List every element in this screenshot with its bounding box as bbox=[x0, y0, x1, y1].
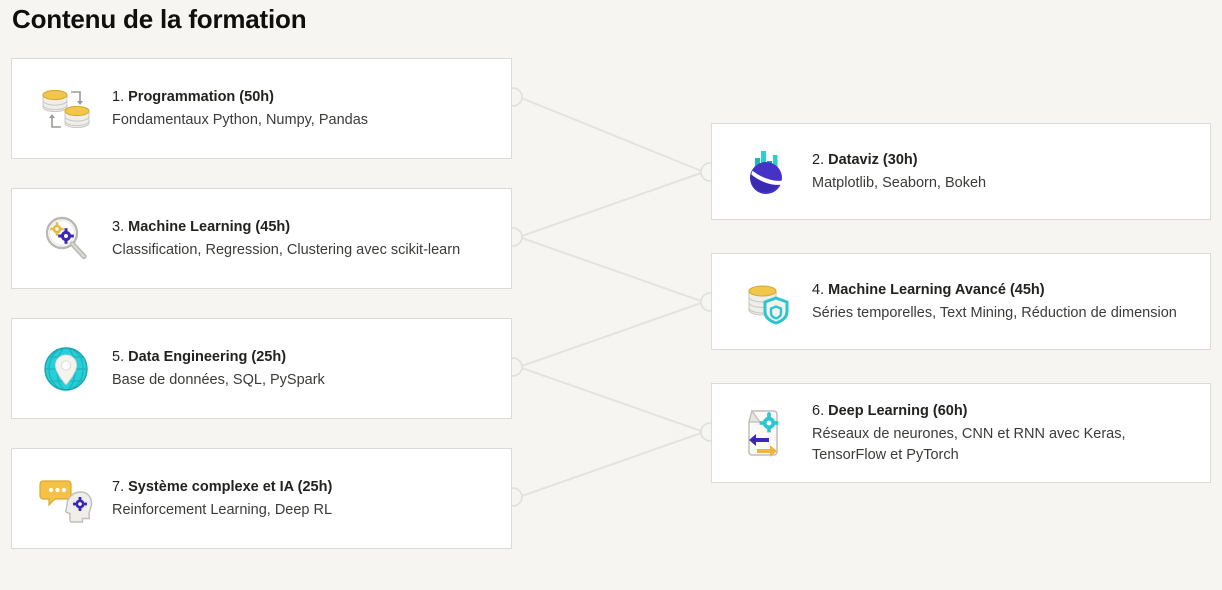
module-card-3[interactable]: 3. Machine Learning (45h) Classification… bbox=[11, 188, 512, 289]
file-gear-arrows-icon bbox=[738, 405, 794, 461]
module-title: 7. Système complexe et IA (25h) bbox=[112, 477, 493, 498]
magnifier-gears-icon bbox=[38, 211, 94, 267]
module-card-6[interactable]: 6. Deep Learning (60h) Réseaux de neuron… bbox=[711, 383, 1211, 483]
module-title: 5. Data Engineering (25h) bbox=[112, 347, 493, 368]
module-card-text: 6. Deep Learning (60h) Réseaux de neuron… bbox=[812, 401, 1210, 466]
module-number: 2. bbox=[812, 152, 824, 168]
module-card-4[interactable]: 4. Machine Learning Avancé (45h) Séries … bbox=[711, 253, 1211, 350]
module-card-text: 3. Machine Learning (45h) Classification… bbox=[112, 217, 511, 261]
module-number: 4. bbox=[812, 282, 824, 298]
module-card-7[interactable]: 7. Système complexe et IA (25h) Reinforc… bbox=[11, 448, 512, 549]
module-card-text: 4. Machine Learning Avancé (45h) Séries … bbox=[812, 280, 1210, 324]
module-description: Base de données, SQL, PySpark bbox=[112, 370, 493, 391]
module-title: 2. Dataviz (30h) bbox=[812, 150, 1192, 171]
wire-1-to-2 bbox=[519, 97, 704, 172]
module-card-text: 7. Système complexe et IA (25h) Reinforc… bbox=[112, 477, 511, 521]
module-card-1[interactable]: 1. Programmation (50h) Fondamentaux Pyth… bbox=[11, 58, 512, 159]
module-title: 1. Programmation (50h) bbox=[112, 87, 493, 108]
wire-3-to-2 bbox=[519, 172, 704, 237]
page-title: Contenu de la formation bbox=[12, 2, 306, 36]
module-number: 1. bbox=[112, 89, 124, 105]
head-chat-gear-icon bbox=[38, 471, 94, 527]
module-card-text: 2. Dataviz (30h) Matplotlib, Seaborn, Bo… bbox=[812, 150, 1210, 194]
module-description: Réseaux de neurones, CNN et RNN avec Ker… bbox=[812, 424, 1192, 466]
module-description: Fondamentaux Python, Numpy, Pandas bbox=[112, 110, 493, 131]
module-description: Reinforcement Learning, Deep RL bbox=[112, 500, 493, 521]
globe-pin-icon bbox=[38, 341, 94, 397]
module-name: Machine Learning Avancé (45h) bbox=[828, 282, 1044, 298]
wire-5-to-6 bbox=[519, 367, 704, 432]
wire-5-to-4 bbox=[519, 302, 704, 367]
database-shield-icon bbox=[738, 274, 794, 330]
module-name: Dataviz (30h) bbox=[828, 152, 917, 168]
wire-3-to-4 bbox=[519, 237, 704, 302]
module-name: Machine Learning (45h) bbox=[128, 219, 290, 235]
chart-sphere-icon bbox=[738, 144, 794, 200]
module-name: Data Engineering (25h) bbox=[128, 349, 286, 365]
module-name: Système complexe et IA (25h) bbox=[128, 479, 332, 495]
module-title: 6. Deep Learning (60h) bbox=[812, 401, 1192, 422]
module-card-5[interactable]: 5. Data Engineering (25h) Base de donnée… bbox=[11, 318, 512, 419]
module-card-2[interactable]: 2. Dataviz (30h) Matplotlib, Seaborn, Bo… bbox=[711, 123, 1211, 220]
module-number: 6. bbox=[812, 403, 824, 419]
module-description: Matplotlib, Seaborn, Bokeh bbox=[812, 173, 1192, 194]
module-name: Programmation (50h) bbox=[128, 89, 274, 105]
module-number: 7. bbox=[112, 479, 124, 495]
module-number: 3. bbox=[112, 219, 124, 235]
course-content-page: Contenu de la formation bbox=[0, 0, 1222, 590]
module-number: 5. bbox=[112, 349, 124, 365]
module-description: Classification, Regression, Clustering a… bbox=[112, 240, 493, 261]
module-card-text: 1. Programmation (50h) Fondamentaux Pyth… bbox=[112, 87, 511, 131]
module-description: Séries temporelles, Text Mining, Réducti… bbox=[812, 303, 1192, 324]
module-title: 4. Machine Learning Avancé (45h) bbox=[812, 280, 1192, 301]
module-name: Deep Learning (60h) bbox=[828, 403, 967, 419]
wire-7-to-6 bbox=[519, 432, 704, 497]
module-card-text: 5. Data Engineering (25h) Base de donnée… bbox=[112, 347, 511, 391]
databases-transfer-icon bbox=[38, 81, 94, 137]
module-title: 3. Machine Learning (45h) bbox=[112, 217, 493, 238]
